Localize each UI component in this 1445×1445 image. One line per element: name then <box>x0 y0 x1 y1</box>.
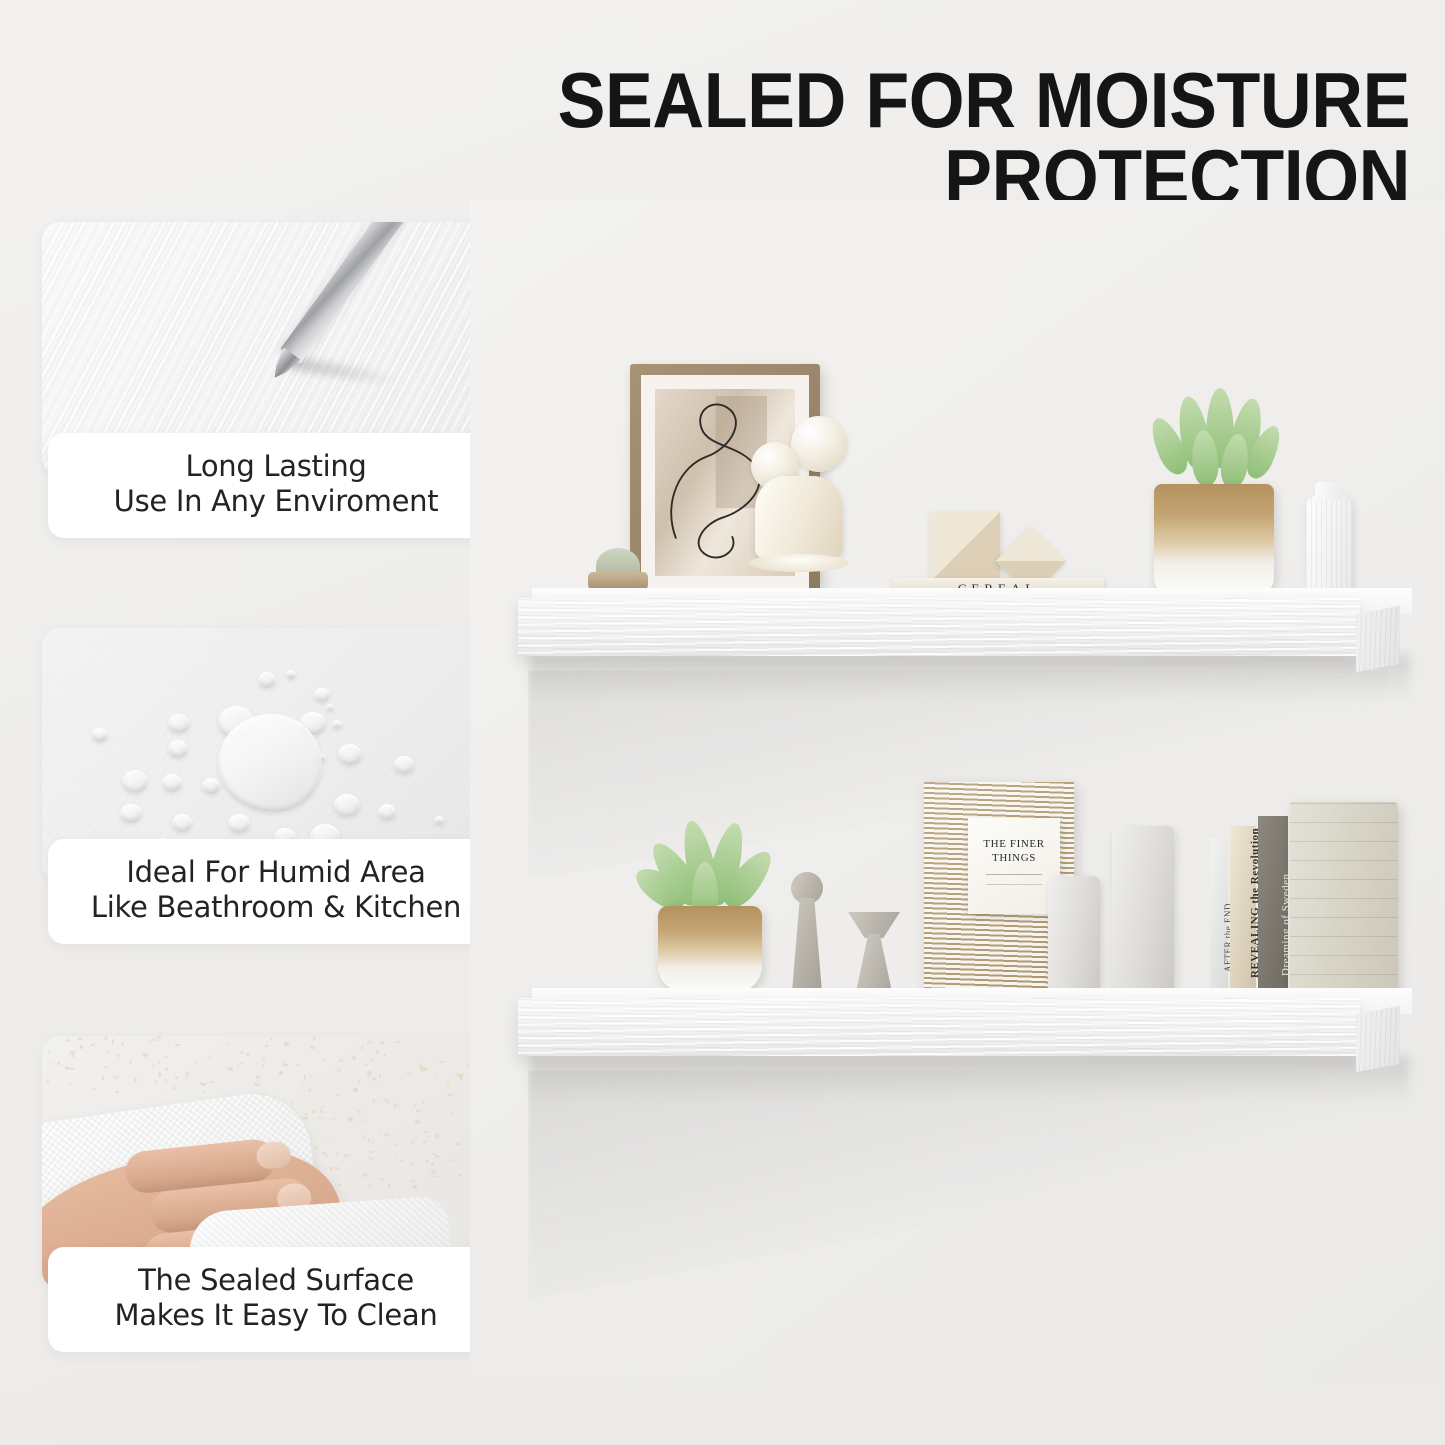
crumb <box>413 1104 416 1106</box>
tall-candlestick <box>788 872 826 992</box>
crumb <box>395 1041 400 1043</box>
crumb <box>353 1088 358 1092</box>
crumb <box>412 1109 414 1111</box>
crumb <box>256 1083 260 1086</box>
crumb <box>409 1163 414 1165</box>
crumb <box>291 1101 293 1104</box>
crumb <box>367 1071 372 1075</box>
crumb <box>413 1185 416 1189</box>
crumb <box>427 1135 430 1138</box>
water-droplet <box>332 720 342 729</box>
crumb <box>152 1065 154 1067</box>
water-droplet <box>334 794 360 817</box>
crumb <box>143 1053 147 1056</box>
crumb <box>394 1144 399 1146</box>
agave-pot <box>658 906 762 992</box>
crumb <box>458 1174 461 1176</box>
crumb <box>336 1093 339 1097</box>
water-droplet-large <box>218 714 322 812</box>
crumb <box>115 1091 119 1094</box>
crumb <box>228 1067 233 1070</box>
crumb <box>318 1116 321 1120</box>
crumb <box>296 1064 299 1066</box>
crumb <box>175 1076 178 1079</box>
crumb <box>303 1116 308 1120</box>
crumb <box>354 1166 356 1169</box>
crumb <box>102 1076 104 1080</box>
crumb <box>325 1154 328 1158</box>
crumb <box>121 1042 124 1046</box>
water-droplet <box>394 756 414 774</box>
crumb <box>337 1069 341 1071</box>
short-candlestick <box>848 912 900 992</box>
crumb <box>395 1155 397 1157</box>
crumb <box>435 1134 439 1138</box>
lower-shelf <box>518 988 1418 1078</box>
book-spine-dreaming-of-sweden: Dreaming of Sweden <box>1258 816 1288 994</box>
crumb <box>384 1133 389 1136</box>
crumb <box>411 1165 414 1167</box>
crumb <box>262 1064 264 1068</box>
crumb <box>368 1138 370 1142</box>
crumb <box>202 1091 206 1093</box>
crumb <box>164 1079 168 1081</box>
crumb <box>388 1101 390 1104</box>
crumb <box>338 1184 340 1186</box>
crumb <box>57 1062 60 1065</box>
crumb <box>283 1064 288 1066</box>
crumb <box>336 1152 339 1155</box>
succulent-pot <box>1154 484 1274 594</box>
crumb <box>425 1160 429 1162</box>
shelf-end-cap <box>1356 606 1400 673</box>
crumb <box>134 1078 137 1081</box>
crumb <box>327 1139 329 1141</box>
crumb <box>373 1099 375 1103</box>
shelf-front-edge <box>518 598 1360 656</box>
crumb <box>69 1068 74 1070</box>
crumb <box>321 1105 323 1107</box>
crumb <box>372 1077 377 1080</box>
crumb <box>361 1046 364 1049</box>
crumb <box>230 1055 233 1057</box>
crumb <box>422 1067 427 1071</box>
crumb <box>304 1113 308 1115</box>
crumb <box>65 1039 70 1042</box>
pearl-couple-figurine <box>745 416 851 584</box>
crumb <box>400 1159 403 1162</box>
feature-card-long-lasting: Long Lasting Use In Any Enviroment <box>42 222 510 538</box>
crumb <box>202 1083 206 1086</box>
shelf-scene: CEREAL UNION <box>470 200 1445 1380</box>
crumb <box>116 1054 121 1058</box>
crumb <box>422 1141 427 1143</box>
book-spine-after-the-end: AFTER the END <box>1210 838 1228 994</box>
water-droplet <box>434 816 444 825</box>
crumb <box>265 1045 268 1047</box>
cylindrical-vase-short <box>1048 876 1100 994</box>
crumb <box>380 1178 384 1181</box>
shelf-end-cap <box>1356 1006 1400 1073</box>
crumb <box>376 1050 379 1053</box>
water-droplet <box>172 814 192 832</box>
crumb <box>433 1176 438 1178</box>
book-the-finer-things: THE FINER THINGS <box>968 818 1060 914</box>
crumb <box>151 1038 155 1042</box>
crumb <box>85 1057 88 1059</box>
ribbed-white-vase <box>1306 496 1352 594</box>
crumb <box>246 1053 249 1056</box>
crumb <box>313 1037 315 1041</box>
crumb <box>383 1054 386 1056</box>
book-rule <box>986 884 1042 885</box>
crumb <box>419 1063 421 1065</box>
crumb <box>91 1044 95 1046</box>
crumb <box>78 1037 83 1040</box>
crumb <box>379 1130 381 1132</box>
feature-caption: Ideal For Humid Area Like Beathroom & Ki… <box>48 839 504 944</box>
crumb <box>237 1065 239 1067</box>
crumb <box>447 1083 450 1086</box>
crumb <box>315 1103 317 1106</box>
crumb <box>334 1167 339 1170</box>
crumb <box>460 1078 463 1080</box>
water-droplet <box>378 804 396 820</box>
water-droplet <box>92 728 108 742</box>
crumb <box>344 1154 349 1157</box>
crumb <box>375 1086 377 1088</box>
crumb <box>80 1045 82 1049</box>
succulent-plant <box>1146 386 1284 496</box>
crumb <box>411 1180 416 1183</box>
crumb <box>368 1151 373 1153</box>
water-droplet <box>338 744 362 765</box>
crumb <box>256 1076 260 1079</box>
book-rule <box>986 874 1042 875</box>
shelf-front-edge <box>518 998 1360 1056</box>
crumb <box>371 1057 374 1061</box>
crumb <box>455 1073 459 1076</box>
crumb <box>362 1135 366 1139</box>
crumb <box>144 1056 147 1058</box>
crumb <box>414 1138 418 1140</box>
feature-caption: The Sealed Surface Makes It Easy To Clea… <box>48 1247 504 1352</box>
crumb <box>321 1152 326 1156</box>
crumb <box>284 1042 289 1046</box>
crumb <box>421 1110 423 1112</box>
crumb <box>452 1112 454 1114</box>
crumb <box>416 1109 420 1113</box>
crumb <box>358 1080 360 1084</box>
crumb <box>460 1092 462 1096</box>
water-droplet <box>168 740 188 758</box>
crumb <box>361 1119 364 1121</box>
crumb <box>185 1072 190 1076</box>
crumb <box>456 1143 460 1145</box>
crumb <box>352 1056 357 1060</box>
crumb <box>112 1039 114 1043</box>
crumb <box>368 1184 373 1187</box>
crumb <box>431 1163 433 1166</box>
crumb <box>262 1057 266 1061</box>
water-droplet <box>314 688 330 702</box>
crumb <box>239 1051 244 1054</box>
figurine-base <box>749 554 849 572</box>
candlestick-body <box>792 898 822 992</box>
crumb <box>92 1088 96 1091</box>
crumb <box>107 1050 109 1054</box>
crumb <box>383 1098 388 1102</box>
crumb <box>439 1061 444 1063</box>
feature-card-humid-area: Ideal For Humid Area Like Beathroom & Ki… <box>42 628 510 944</box>
product-marketing-image: SEALED FOR MOISTURE PROTECTION Long Last… <box>0 0 1445 1445</box>
water-droplet <box>258 672 276 688</box>
crumb <box>348 1117 353 1121</box>
crumb <box>173 1087 176 1090</box>
crumb <box>49 1063 52 1065</box>
crumb <box>304 1075 306 1079</box>
crumb <box>102 1058 107 1060</box>
crumb <box>308 1089 311 1092</box>
crumb <box>325 1167 327 1170</box>
crumb <box>309 1075 313 1078</box>
crumb <box>270 1038 272 1040</box>
crumb <box>240 1062 243 1065</box>
crumb <box>186 1076 189 1078</box>
crumb <box>365 1063 367 1066</box>
crumb <box>434 1074 437 1077</box>
crumb <box>339 1059 343 1062</box>
crumb <box>396 1105 400 1107</box>
page-title: SEALED FOR MOISTURE PROTECTION <box>481 62 1410 216</box>
pearl-head-large <box>791 416 847 472</box>
crumb <box>164 1056 169 1058</box>
crumb <box>70 1051 75 1055</box>
vase-neck <box>1315 482 1343 500</box>
crumb <box>380 1041 383 1044</box>
upper-shelf <box>518 588 1418 678</box>
water-droplet <box>326 704 334 711</box>
crumb <box>431 1170 436 1174</box>
water-droplet <box>122 770 148 793</box>
crumb <box>46 1080 49 1083</box>
crumb <box>367 1041 372 1045</box>
crumb <box>48 1051 50 1053</box>
crumb <box>388 1184 390 1188</box>
thick-cream-book <box>1290 802 1398 994</box>
crumb <box>379 1074 381 1078</box>
crumb <box>435 1155 439 1158</box>
crumb <box>323 1059 325 1063</box>
crumb <box>357 1110 361 1113</box>
crumb <box>156 1036 160 1040</box>
cylindrical-vase-tall <box>1112 826 1174 994</box>
crumb <box>368 1075 371 1077</box>
crumb <box>448 1093 452 1097</box>
crumb <box>315 1146 317 1149</box>
crumb <box>415 1120 420 1124</box>
crumb <box>363 1173 367 1177</box>
crumb <box>104 1066 108 1068</box>
crumb <box>449 1160 454 1162</box>
crumb <box>279 1071 284 1074</box>
crumb <box>310 1046 315 1049</box>
crumb <box>69 1082 71 1085</box>
crumb <box>410 1140 414 1143</box>
water-droplet <box>286 670 296 679</box>
water-droplet <box>202 778 220 794</box>
crumb <box>330 1167 334 1171</box>
crumb <box>422 1101 425 1104</box>
water-droplet <box>162 774 182 792</box>
book-title: THE FINER THINGS <box>968 838 1060 866</box>
feature-card-easy-clean: The Sealed Surface Makes It Easy To Clea… <box>42 1036 510 1352</box>
book-spine-revealing-the-revolution: REVEALING the Revolution <box>1230 826 1256 994</box>
crumb <box>148 1041 151 1043</box>
crumb <box>158 1060 160 1064</box>
crumb <box>209 1055 211 1058</box>
crumb <box>129 1061 132 1064</box>
crumb <box>406 1072 411 1074</box>
crumb <box>195 1061 197 1064</box>
crumb <box>372 1140 374 1144</box>
crumb <box>165 1067 169 1070</box>
crumb <box>209 1081 214 1083</box>
crumb <box>311 1110 316 1113</box>
crumb <box>155 1080 157 1084</box>
feature-caption: Long Lasting Use In Any Enviroment <box>48 433 504 538</box>
crumb <box>225 1043 230 1045</box>
crumb <box>158 1072 161 1076</box>
crumb <box>301 1082 303 1085</box>
crumb <box>423 1131 428 1133</box>
figurine-bodies <box>755 476 843 560</box>
crumb <box>175 1044 180 1046</box>
origami-cube-large <box>930 512 1000 582</box>
crumb <box>113 1076 118 1080</box>
crumb <box>330 1118 335 1120</box>
candlestick-foot <box>856 934 892 992</box>
